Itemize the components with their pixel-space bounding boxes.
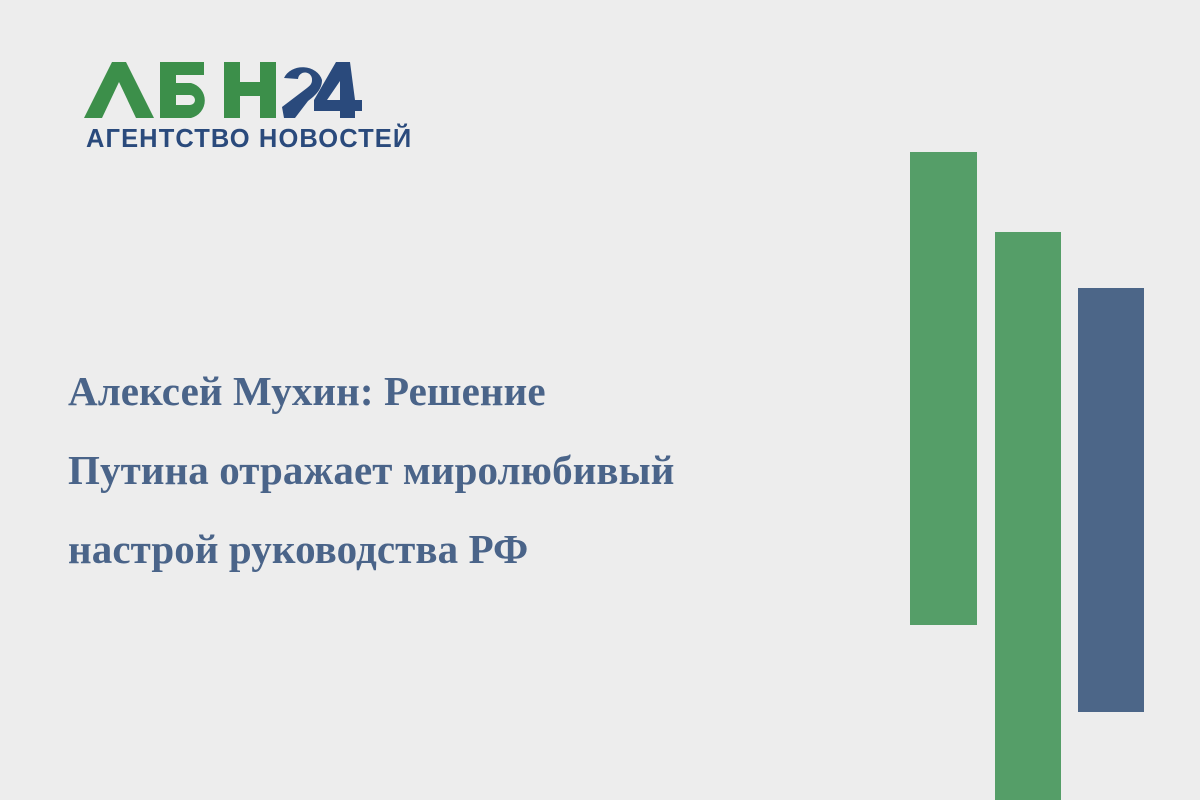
news-card: АГЕНТСТВО НОВОСТЕЙ Алексей Мухин: Решени…	[0, 0, 1200, 800]
decorative-bar-3	[1078, 288, 1144, 712]
headline-line-2: Путина отражает миролюбивый	[68, 431, 868, 510]
logo-wordmark-icon	[84, 62, 362, 118]
decorative-bar-2	[995, 232, 1061, 800]
headline-line-3: настрой руководства РФ	[68, 510, 868, 589]
decorative-bar-1	[910, 152, 977, 625]
headline-line-1: Алексей Мухин: Решение	[68, 352, 868, 431]
headline: Алексей Мухин: Решение Путина отражает м…	[68, 352, 868, 589]
logo-tagline: АГЕНТСТВО НОВОСТЕЙ	[86, 127, 374, 153]
logo[interactable]: АГЕНТСТВО НОВОСТЕЙ	[84, 62, 374, 153]
